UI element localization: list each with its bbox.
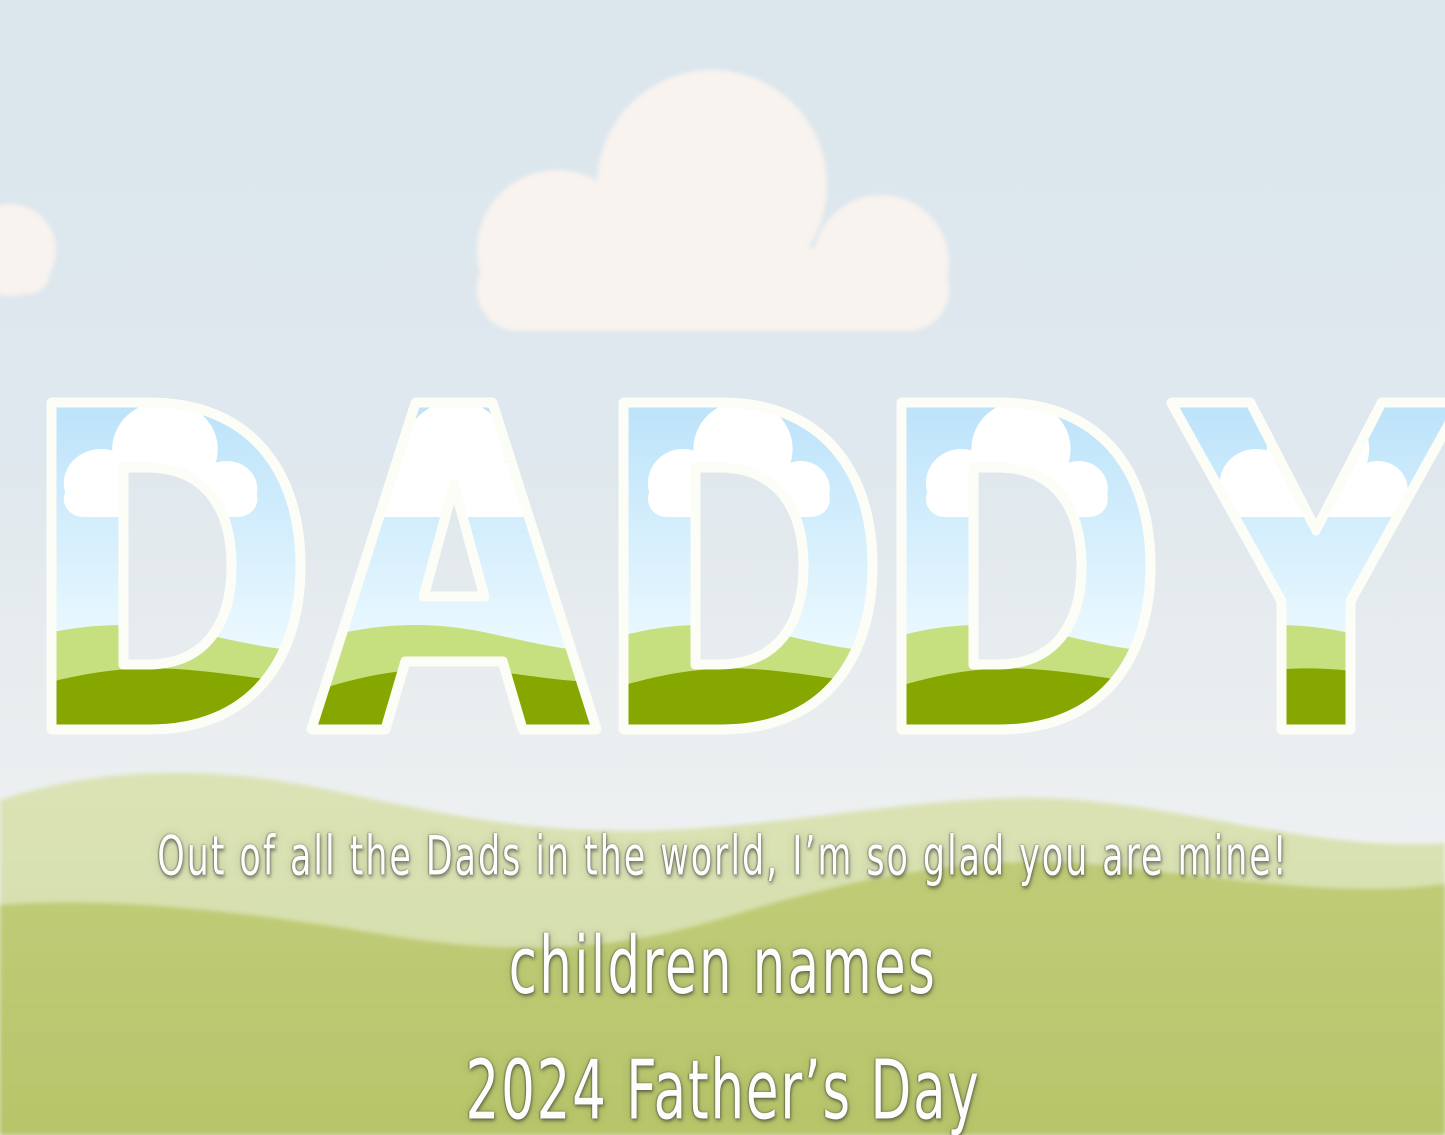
letter-d-3	[866, 397, 1176, 735]
cloud-main-icon	[477, 70, 949, 331]
occasion-container: 2024 Father’s Day	[0, 1057, 1445, 1123]
children-names-text: children names	[508, 920, 937, 1012]
title-daddy	[0, 397, 1445, 735]
letter-y	[1158, 397, 1445, 735]
letter-d-1	[0, 397, 330, 735]
fathers-day-card: Out of all the Dads in the world, I’m so…	[0, 0, 1445, 1135]
tagline-container: Out of all the Dads in the world, I’m so…	[0, 833, 1445, 879]
children-names-container: children names	[0, 935, 1445, 997]
letter-a	[296, 397, 616, 735]
tagline-text: Out of all the Dads in the world, I’m so…	[157, 825, 1288, 887]
occasion-text: 2024 Father’s Day	[465, 1042, 980, 1135]
cloud-left-edge-icon	[0, 204, 56, 296]
letter-d-2	[588, 397, 898, 735]
